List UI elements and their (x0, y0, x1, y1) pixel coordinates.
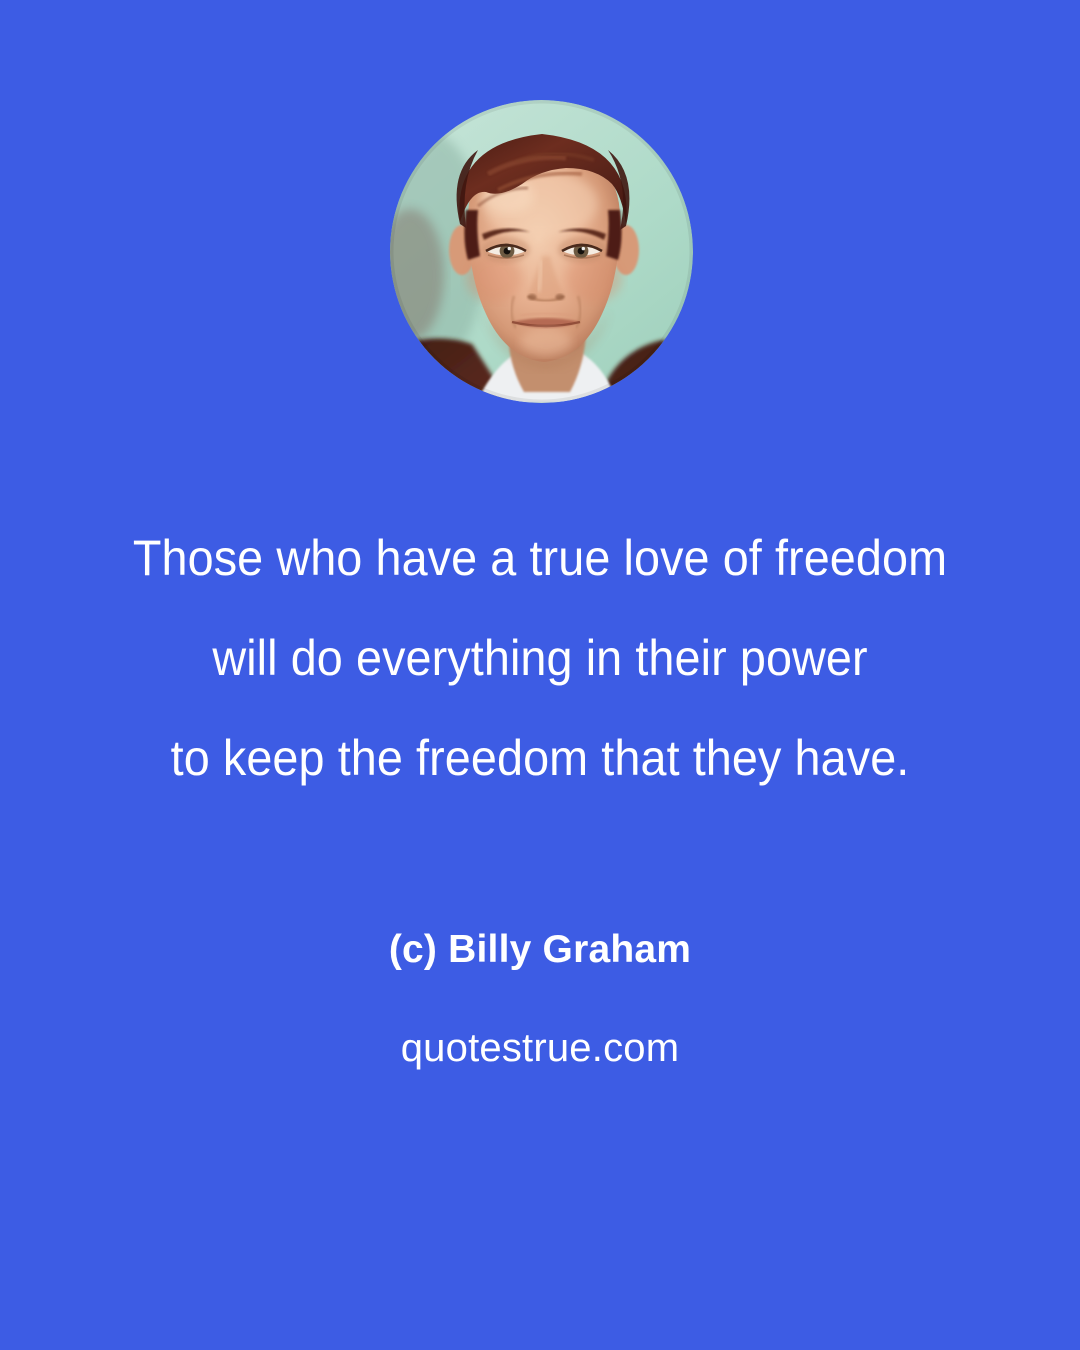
quote-text: Those who have a true love of freedom wi… (0, 508, 1080, 808)
quote-line-2: will do everything in their power (35, 608, 1045, 708)
site-url-watermark: quotestrue.com (0, 1026, 1080, 1071)
quote-attribution: (c) Billy Graham (0, 928, 1080, 972)
quote-line-1: Those who have a true love of freedom (35, 508, 1045, 608)
quote-card: Those who have a true love of freedom wi… (0, 0, 1080, 1350)
author-portrait-avatar (390, 100, 693, 403)
quote-line-3: to keep the freedom that they have. (35, 708, 1045, 808)
portrait-photo-icon (390, 100, 693, 403)
